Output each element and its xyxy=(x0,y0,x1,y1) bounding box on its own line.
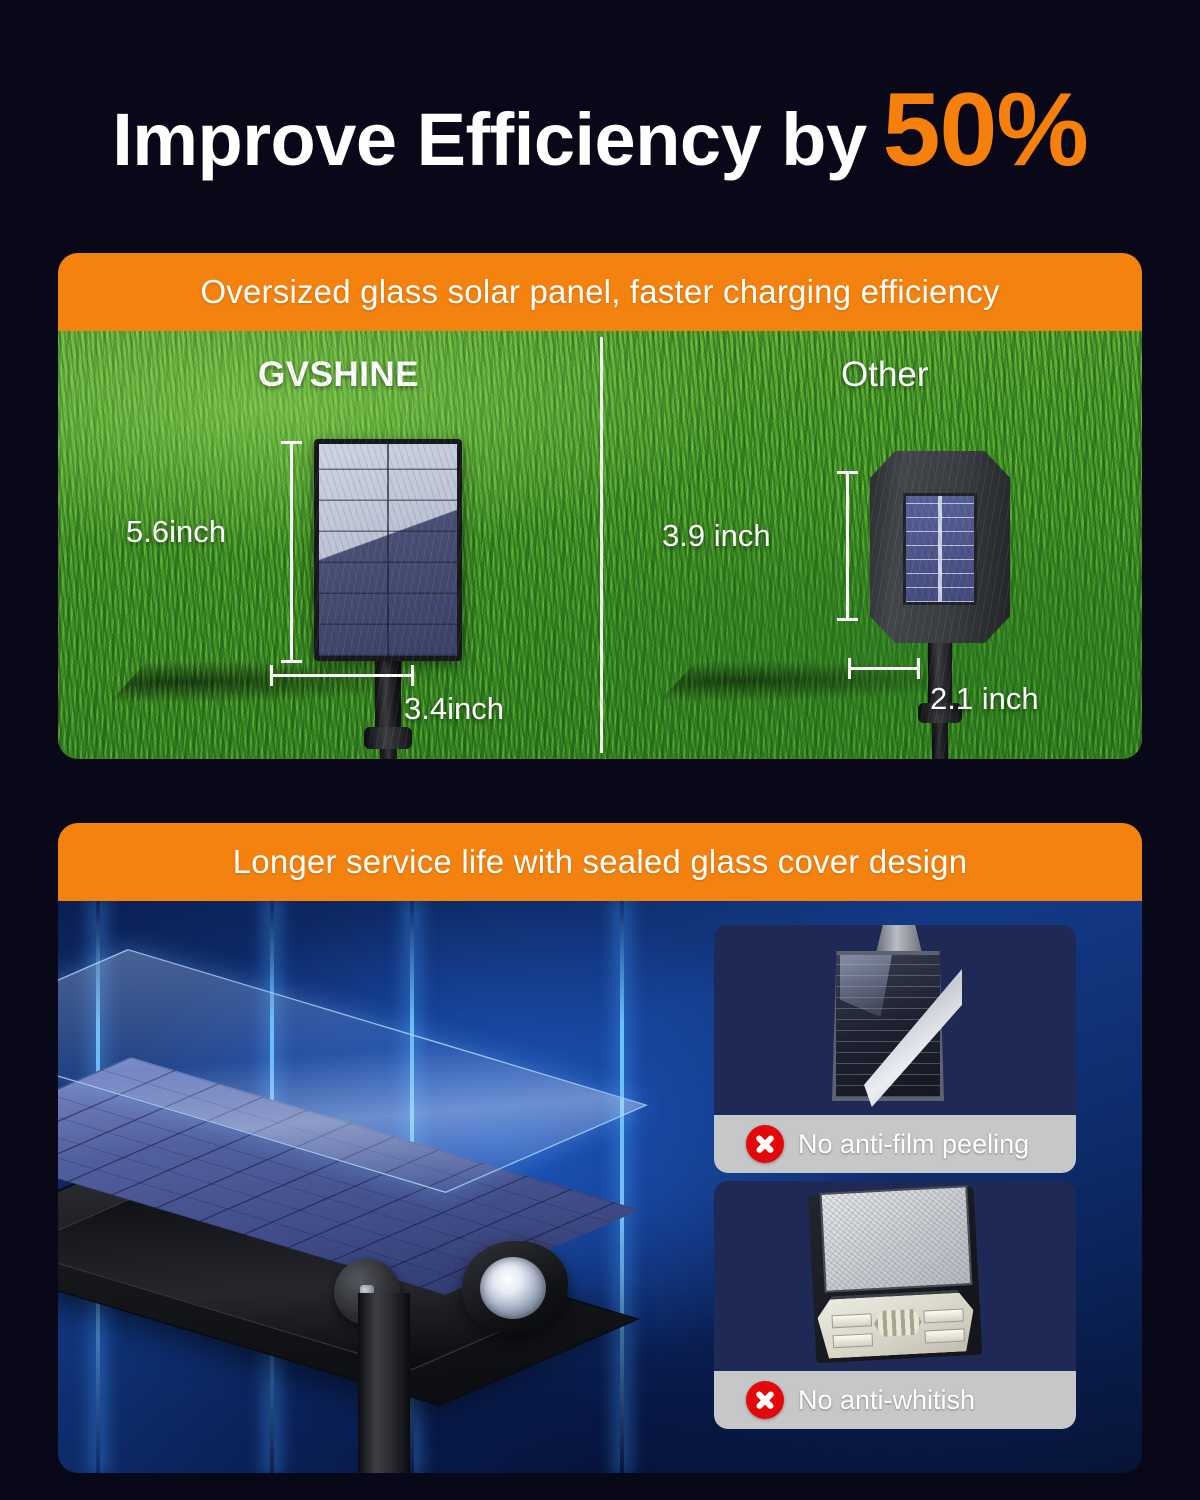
whitish-lamp-photo xyxy=(714,1181,1076,1371)
status-badge-label: No anti-film peeling xyxy=(798,1129,1029,1160)
status-badge: No anti-film peeling xyxy=(714,1115,1076,1173)
sealed-glass-card: Longer service life with sealed glass co… xyxy=(58,823,1142,1473)
other-width-label: 2.1 inch xyxy=(930,681,1039,717)
gvshine-width-label: 3.4inch xyxy=(404,691,504,727)
headline-accent-percent: 50% xyxy=(883,78,1088,182)
gvshine-width-dimension-line xyxy=(270,674,414,677)
gvshine-stem xyxy=(375,661,401,731)
gvshine-collar xyxy=(364,727,412,749)
led-cluster xyxy=(873,1309,922,1337)
status-badge-label: No anti-whitish xyxy=(798,1385,975,1416)
headline-main-text: Improve Efficiency by xyxy=(112,103,866,177)
comparison-divider xyxy=(600,337,603,753)
thumbnail-whitish: No anti-whitish xyxy=(714,1181,1076,1429)
lamp-post xyxy=(358,1293,410,1473)
whitish-led-face xyxy=(816,1289,975,1359)
led-bar xyxy=(833,1333,874,1348)
comparison-banner: Oversized glass solar panel, faster char… xyxy=(58,253,1142,331)
other-solar-panel xyxy=(903,493,977,605)
brand-label-other: Other xyxy=(841,355,929,395)
light-beam xyxy=(620,901,624,1473)
other-height-label: 3.9 inch xyxy=(662,518,771,554)
tech-background: No anti-film peeling No anti-whitish xyxy=(58,901,1142,1473)
thumbnail-film-peeling: No anti-film peeling xyxy=(714,925,1076,1173)
red-x-circle-icon xyxy=(746,1125,784,1163)
page-headline: Improve Efficiency by 50% xyxy=(0,78,1200,188)
led-bar xyxy=(831,1313,872,1328)
led-housing xyxy=(462,1241,568,1333)
gvshine-ground-spike xyxy=(380,749,397,759)
whitish-degraded-panel xyxy=(819,1185,972,1293)
comparison-card: Oversized glass solar panel, faster char… xyxy=(58,253,1142,759)
sealed-glass-banner: Longer service life with sealed glass co… xyxy=(58,823,1142,901)
red-x-circle-icon xyxy=(746,1381,784,1419)
other-lamp-head xyxy=(870,451,1010,643)
gvshine-solar-panel xyxy=(314,439,462,661)
other-width-dimension-line xyxy=(848,667,920,670)
film-peeling-mount xyxy=(876,925,922,953)
led-bar xyxy=(924,1328,965,1343)
gvshine-height-label: 5.6inch xyxy=(126,514,226,550)
led-lens xyxy=(480,1257,546,1319)
gvshine-height-dimension-line xyxy=(290,441,293,663)
led-bar xyxy=(923,1308,964,1323)
other-ground-spike xyxy=(932,723,948,759)
grass-photo-background: GVSHINE 5.6inch 3.4inch Other 3.9 inch 2… xyxy=(58,331,1142,759)
status-badge: No anti-whitish xyxy=(714,1371,1076,1429)
film-peeling-photo xyxy=(714,925,1076,1115)
brand-label-gvshine: GVSHINE xyxy=(258,355,419,395)
other-height-dimension-line xyxy=(846,471,849,621)
